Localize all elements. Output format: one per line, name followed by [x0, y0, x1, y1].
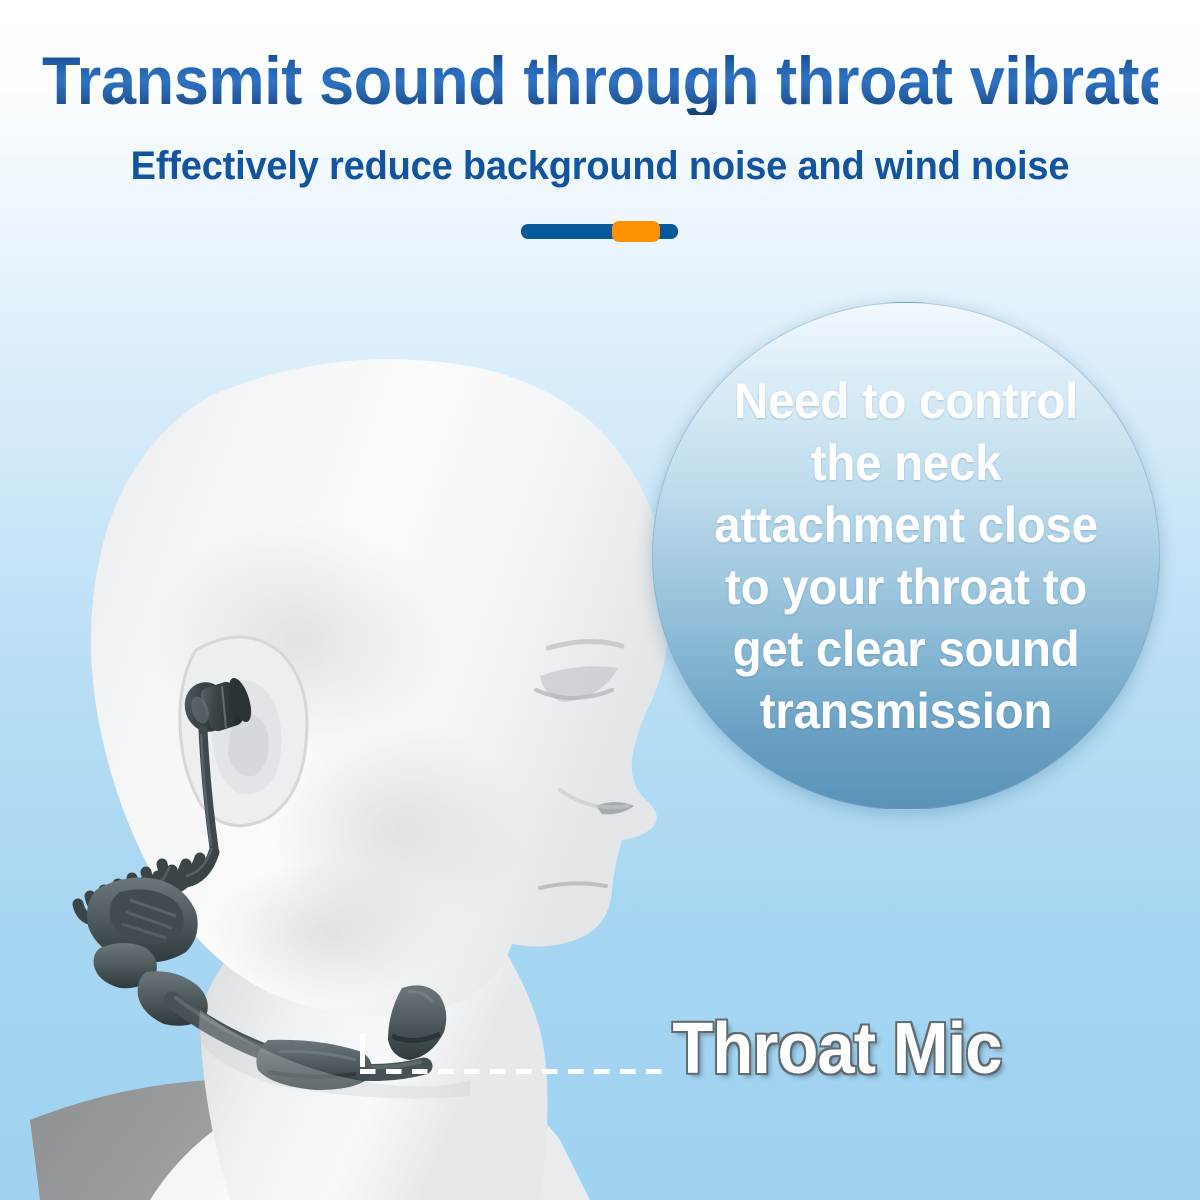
product-poster: Transmit sound through throat vibrate Ef… — [0, 0, 1200, 1200]
divider-bar — [521, 224, 678, 239]
header: Transmit sound through throat vibrate Ef… — [0, 0, 1200, 210]
page-subtitle: Effectively reduce background noise and … — [30, 146, 1170, 186]
callout-text: Need to control the neck attachment clos… — [707, 370, 1106, 742]
leader-tick — [360, 1034, 365, 1067]
callout-badge: Need to control the neck attachment clos… — [652, 302, 1160, 810]
page-title: Transmit sound through throat vibrate — [42, 47, 1158, 115]
jaw-shading — [210, 860, 450, 1000]
divider-accent — [612, 221, 660, 242]
product-label: Throat Mic — [672, 1013, 1001, 1085]
leader-line — [360, 1069, 670, 1074]
